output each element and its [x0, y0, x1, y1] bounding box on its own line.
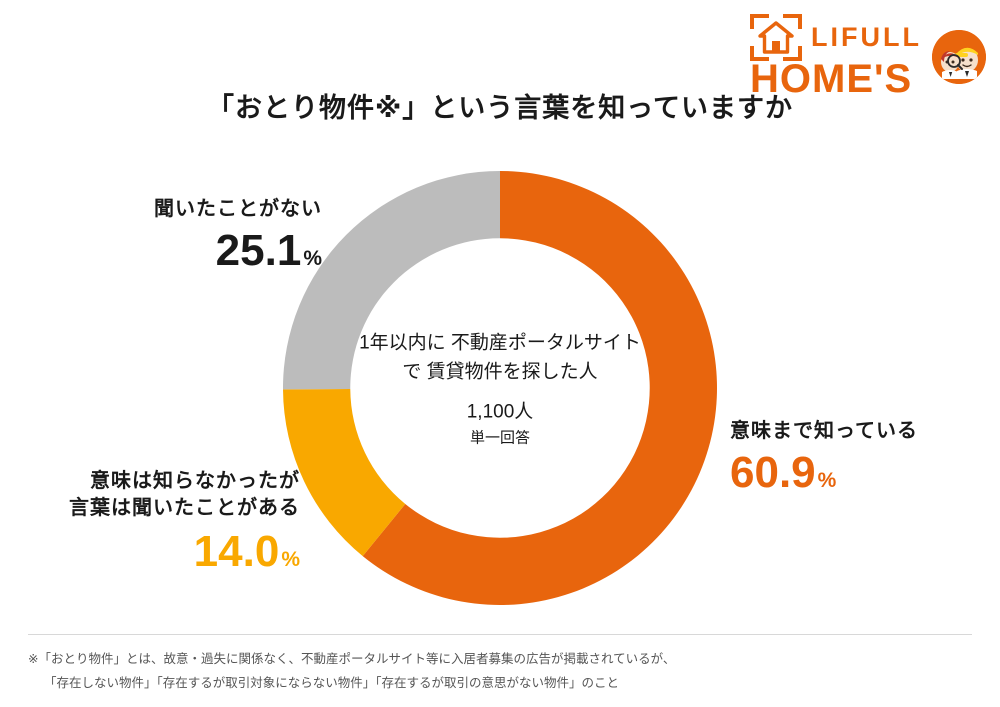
page-title: 「おとり物件※」という言葉を知っていますか	[0, 86, 1000, 125]
callout-never-heard: 聞いたことがない 25.1%	[92, 196, 322, 275]
callout-never-heard-unit: %	[303, 247, 322, 270]
logo-top-row: LIFULL	[750, 14, 922, 61]
callout-knows-meaning-label: 意味まで知っている	[730, 418, 980, 445]
callout-never-heard-value-row: 25.1%	[92, 227, 322, 275]
lifull-mascot-icon	[932, 30, 986, 84]
footnote-line-1: ※「おとり物件」とは、故意・過失に関係なく、不動産ポータルサイト等に入居者募集の…	[28, 648, 958, 672]
callout-heard-only-label: 意味は知らなかったが 言葉は聞いたことがある	[20, 468, 300, 522]
callout-knows-meaning-unit: %	[818, 469, 837, 492]
callout-heard-only: 意味は知らなかったが 言葉は聞いたことがある 14.0%	[20, 468, 300, 576]
callout-knows-meaning-value-row: 60.9%	[730, 449, 980, 497]
callout-knows-meaning: 意味まで知っている 60.9%	[730, 418, 980, 497]
callout-knows-meaning-value: 60.9	[730, 448, 816, 497]
callout-heard-only-value: 14.0	[194, 527, 280, 576]
callout-never-heard-label: 聞いたことがない	[92, 196, 322, 223]
logo-lifull-text: LIFULL	[811, 24, 922, 51]
footnote-divider	[28, 634, 972, 635]
callout-never-heard-value: 25.1	[216, 226, 302, 275]
house-in-brackets-icon	[750, 14, 802, 61]
footnote: ※「おとり物件」とは、故意・過失に関係なく、不動産ポータルサイト等に入居者募集の…	[28, 648, 958, 696]
donut-chart	[283, 171, 717, 605]
callout-heard-only-unit: %	[281, 548, 300, 571]
footnote-line-2: 「存在しない物件」「存在するが取引対象にならない物件」「存在するが取引の意思がな…	[28, 672, 958, 696]
callout-heard-only-value-row: 14.0%	[20, 528, 300, 576]
